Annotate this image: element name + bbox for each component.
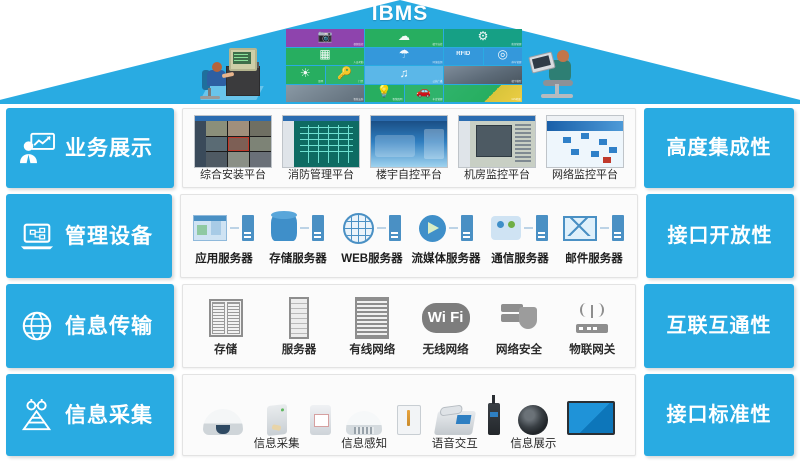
server-label: 邮件服务器: [565, 254, 623, 266]
device-item[interactable]: [203, 391, 243, 451]
iot-gateway-icon: [572, 301, 612, 335]
sidebar-item-information-collection[interactable]: 信息采集: [6, 374, 174, 456]
tile-label: 环境监测: [432, 63, 442, 65]
cctv-camera-icon: 📷: [318, 30, 333, 42]
tile-label: 门禁: [358, 81, 363, 83]
server-item[interactable]: WEB服务器: [335, 206, 409, 266]
device-item[interactable]: [488, 391, 500, 451]
sensor-collect-icon: [18, 398, 56, 432]
device-item[interactable]: 信息展示: [510, 391, 556, 451]
speaker-icon: [518, 405, 548, 435]
tile-label: 楼宇自控: [432, 44, 442, 46]
bulb-icon: 💡: [377, 85, 392, 97]
crt-monitor-icon: [229, 48, 257, 71]
emergency-button-icon: [310, 405, 331, 435]
car-icon: 🚗: [416, 85, 431, 97]
device-group-label: 信息展示: [510, 439, 556, 451]
platform-label: 综合安装平台: [200, 170, 266, 181]
platform-thumb[interactable]: 消防管理平台: [281, 115, 361, 181]
person-head: [212, 62, 222, 72]
light-icon: ☀: [300, 67, 311, 79]
tile-label: 车库管理: [432, 100, 442, 102]
network-label: 物联网关: [569, 345, 615, 357]
information-collection-panel: 信息采集 信息感知: [182, 374, 636, 456]
application-tiles-mosaic: 📷 视频监控 ☁ 楼宇自控 ⚙ 能源管理 ▦ 人员考勤 ☂ 环境监测 RFID: [286, 29, 522, 102]
bas-dashboard-screenshot: [370, 115, 448, 168]
gear-icon: ⚙: [478, 30, 489, 42]
server-box-icon: [612, 215, 624, 241]
presentation-person-icon: [18, 131, 56, 165]
layer-row-management-devices: 管理设备 应用服务器 存储服务器 WEB服务器 流媒体服务器: [0, 194, 800, 278]
feature-badge-standard-interface[interactable]: 接口标准性: [644, 374, 794, 456]
platform-thumb[interactable]: 楼宇自控平台: [369, 115, 449, 181]
server-box-icon: [312, 215, 324, 241]
feature-label: 高度集成性: [667, 138, 772, 158]
device-item[interactable]: 信息感知: [341, 391, 387, 451]
music-note-icon: ♫: [400, 67, 409, 79]
tile-label: 人员考勤: [353, 63, 363, 65]
server-label: 流媒体服务器: [411, 254, 480, 266]
server-item[interactable]: 通信服务器: [483, 206, 557, 266]
server-label: 通信服务器: [491, 254, 549, 266]
smoke-detector-icon: [346, 411, 382, 435]
person-head: [557, 50, 569, 62]
layer-row-business-display: 业务展示 综合安装平台 消防管理平台: [0, 108, 800, 188]
tile-label: 能源管理: [511, 44, 521, 46]
device-item[interactable]: [310, 391, 331, 451]
tile-smart-lighting[interactable]: 💡 智慧照明: [365, 85, 404, 103]
server-box-icon: [389, 215, 401, 241]
tile-access-control[interactable]: 🔑 门禁: [326, 66, 365, 84]
network-item[interactable]: 服务器: [263, 296, 335, 357]
feature-badge-open-interface[interactable]: 接口开放性: [646, 194, 794, 278]
feature-label: 接口开放性: [667, 226, 772, 246]
tile-smart-security[interactable]: 智能安防: [286, 85, 364, 103]
ip-phone-icon: [434, 411, 476, 435]
tile-building-automation[interactable]: ☁ 楼宇自控: [365, 29, 443, 47]
tile-label: GIS地图: [512, 100, 521, 102]
cctv-grid-screenshot: [194, 115, 272, 168]
tile-label: 楼宇模型: [511, 81, 521, 83]
network-item[interactable]: 网络安全: [483, 296, 555, 357]
network-item[interactable]: Wi Fi 无线网络: [410, 296, 482, 357]
server-item[interactable]: 存储服务器: [261, 206, 335, 266]
device-group-label: 信息感知: [341, 439, 387, 451]
walkie-talkie-icon: [488, 403, 500, 435]
platform-label: 楼宇自控平台: [376, 170, 442, 181]
display-monitor-icon: [567, 401, 615, 435]
globe-grid-icon: [18, 309, 56, 343]
tile-label: 智能安防: [353, 100, 363, 102]
fire-plan-screenshot: [282, 115, 360, 168]
feature-label: 互联互通性: [667, 316, 772, 336]
monitor-screen: [233, 52, 251, 64]
database-cylinder-icon: [271, 215, 297, 241]
tile-label: 视频监控: [353, 44, 363, 46]
sidebar-label: 信息传输: [65, 316, 153, 337]
network-item[interactable]: 物联网关: [556, 296, 628, 357]
device-item[interactable]: [397, 391, 421, 451]
device-group-label: [222, 439, 225, 451]
play-button-icon: [419, 215, 446, 242]
platform-label: 机房监控平台: [464, 170, 530, 181]
communication-icon: [491, 216, 521, 240]
server-item[interactable]: 流媒体服务器: [409, 206, 483, 266]
feature-badge-interconnection[interactable]: 互联互通性: [644, 284, 794, 368]
tile-label: 公共广播: [432, 81, 442, 83]
tile-lighting[interactable]: ☀ 照明: [286, 66, 325, 84]
ibms-architecture-diagram: IBMS 📷 视频监控 ☁ 楼宇自控 ⚙ 能源管理: [0, 0, 800, 463]
information-transmission-panel: 存储 服务器 有线网络 Wi Fi 无线网络 网络安全: [182, 284, 636, 368]
tile-environment-monitor[interactable]: ☂ 环境监测: [365, 48, 443, 66]
cloud-icon: ☁: [398, 30, 410, 42]
server-label: 应用服务器: [195, 254, 253, 266]
datacenter-screenshot: [458, 115, 536, 168]
key-icon: 🔑: [337, 67, 352, 79]
management-devices-panel: 应用服务器 存储服务器 WEB服务器 流媒体服务器 通信服务器: [180, 194, 638, 278]
layer-row-information-transmission: 信息传输 存储 服务器 有线网络 Wi Fi 无线网络: [0, 284, 800, 368]
laptop-network-icon: [18, 219, 56, 253]
layers-container: 业务展示 综合安装平台 消防管理平台: [0, 108, 800, 462]
tile-video-surveillance[interactable]: 📷 视频监控: [286, 29, 364, 47]
sidebar-item-management-devices[interactable]: 管理设备: [6, 194, 172, 278]
device-group-label: 语音交互: [432, 439, 478, 451]
thermostat-panel-icon: [397, 405, 421, 435]
security-shield-icon: [501, 301, 537, 335]
chair-base: [200, 96, 220, 99]
roof-section: IBMS 📷 视频监控 ☁ 楼宇自控 ⚙ 能源管理: [0, 0, 800, 104]
device-group-label: [319, 439, 322, 451]
grid-icon: ▦: [319, 48, 330, 60]
operator-at-desktop-illustration: [196, 46, 262, 104]
page-title: IBMS: [0, 2, 800, 26]
envelope-icon: [563, 216, 597, 241]
server-tower-icon: [289, 297, 309, 339]
platform-label: 消防管理平台: [288, 170, 354, 181]
tile-label: 智慧照明: [393, 100, 403, 102]
server-label: WEB服务器: [341, 254, 402, 266]
dome-camera-icon: [203, 409, 243, 435]
tile-parking[interactable]: ◎ 停车管理: [484, 48, 523, 66]
network-label: 服务器: [282, 345, 317, 357]
sidebar-label: 管理设备: [65, 226, 153, 247]
device-group-label: [492, 439, 495, 451]
sidebar-item-information-transmission[interactable]: 信息传输: [6, 284, 174, 368]
device-item[interactable]: 信息采集: [254, 391, 300, 451]
network-label: 无线网络: [423, 345, 469, 357]
platform-thumb[interactable]: 机房监控平台: [457, 115, 537, 181]
parking-icon: ◎: [498, 48, 508, 60]
device-group-label: [589, 439, 592, 451]
feature-label: 接口标准性: [667, 405, 772, 425]
device-item[interactable]: 语音交互: [432, 391, 478, 451]
platform-thumb[interactable]: 综合安装平台: [193, 115, 273, 181]
globe-icon: [343, 213, 374, 244]
wifi-icon: Wi Fi: [422, 303, 470, 333]
wired-rack-icon: [355, 297, 389, 339]
application-window-icon: [193, 215, 227, 241]
water-drop-icon: ☂: [399, 48, 410, 60]
network-item[interactable]: 存储: [190, 296, 262, 357]
layer-row-information-collection: 信息采集 信息采集: [0, 374, 800, 456]
server-item[interactable]: 邮件服务器: [557, 206, 631, 266]
sidebar-item-business-display[interactable]: 业务展示: [6, 108, 174, 188]
feature-badge-high-integration[interactable]: 高度集成性: [644, 108, 794, 188]
network-topology-screenshot: [546, 115, 624, 168]
rfid-icon: RFID: [456, 51, 470, 57]
network-item[interactable]: 有线网络: [336, 296, 408, 357]
server-box-icon: [461, 215, 473, 241]
tile-label: 照明: [319, 81, 324, 83]
server-box-icon: [536, 215, 548, 241]
device-group-label: [408, 439, 411, 451]
tile-attendance[interactable]: ▦ 人员考勤: [286, 48, 364, 66]
tile-rfid[interactable]: RFID: [444, 48, 483, 66]
sidebar-label: 信息采集: [65, 405, 153, 426]
network-label: 有线网络: [349, 345, 395, 357]
tile-energy-management[interactable]: ⚙ 能源管理: [444, 29, 522, 47]
server-label: 存储服务器: [269, 254, 327, 266]
server-item[interactable]: 应用服务器: [187, 206, 261, 266]
tile-public-broadcast[interactable]: ♫ 公共广播: [365, 66, 443, 84]
network-label: 存储: [214, 345, 237, 357]
storage-rack-icon: [209, 299, 243, 337]
device-item[interactable]: [567, 391, 615, 451]
network-label: 网络安全: [496, 345, 542, 357]
tile-gis-map[interactable]: GIS地图: [444, 85, 522, 103]
card-reader-icon: [267, 404, 287, 436]
business-display-panel: 综合安装平台 消防管理平台 楼宇自控平台: [182, 108, 636, 188]
tile-label: 停车管理: [511, 63, 521, 65]
sidebar-label: 业务展示: [65, 138, 153, 159]
tile-garage[interactable]: 🚗 车库管理: [405, 85, 444, 103]
platform-label: 网络监控平台: [552, 170, 618, 181]
operator-with-laptop-illustration: [527, 44, 591, 104]
device-group-label: 信息采集: [254, 439, 300, 451]
tile-building-model[interactable]: 楼宇模型: [444, 66, 522, 84]
chair-base: [541, 94, 573, 98]
platform-thumb[interactable]: 网络监控平台: [545, 115, 625, 181]
server-box-icon: [242, 215, 254, 241]
